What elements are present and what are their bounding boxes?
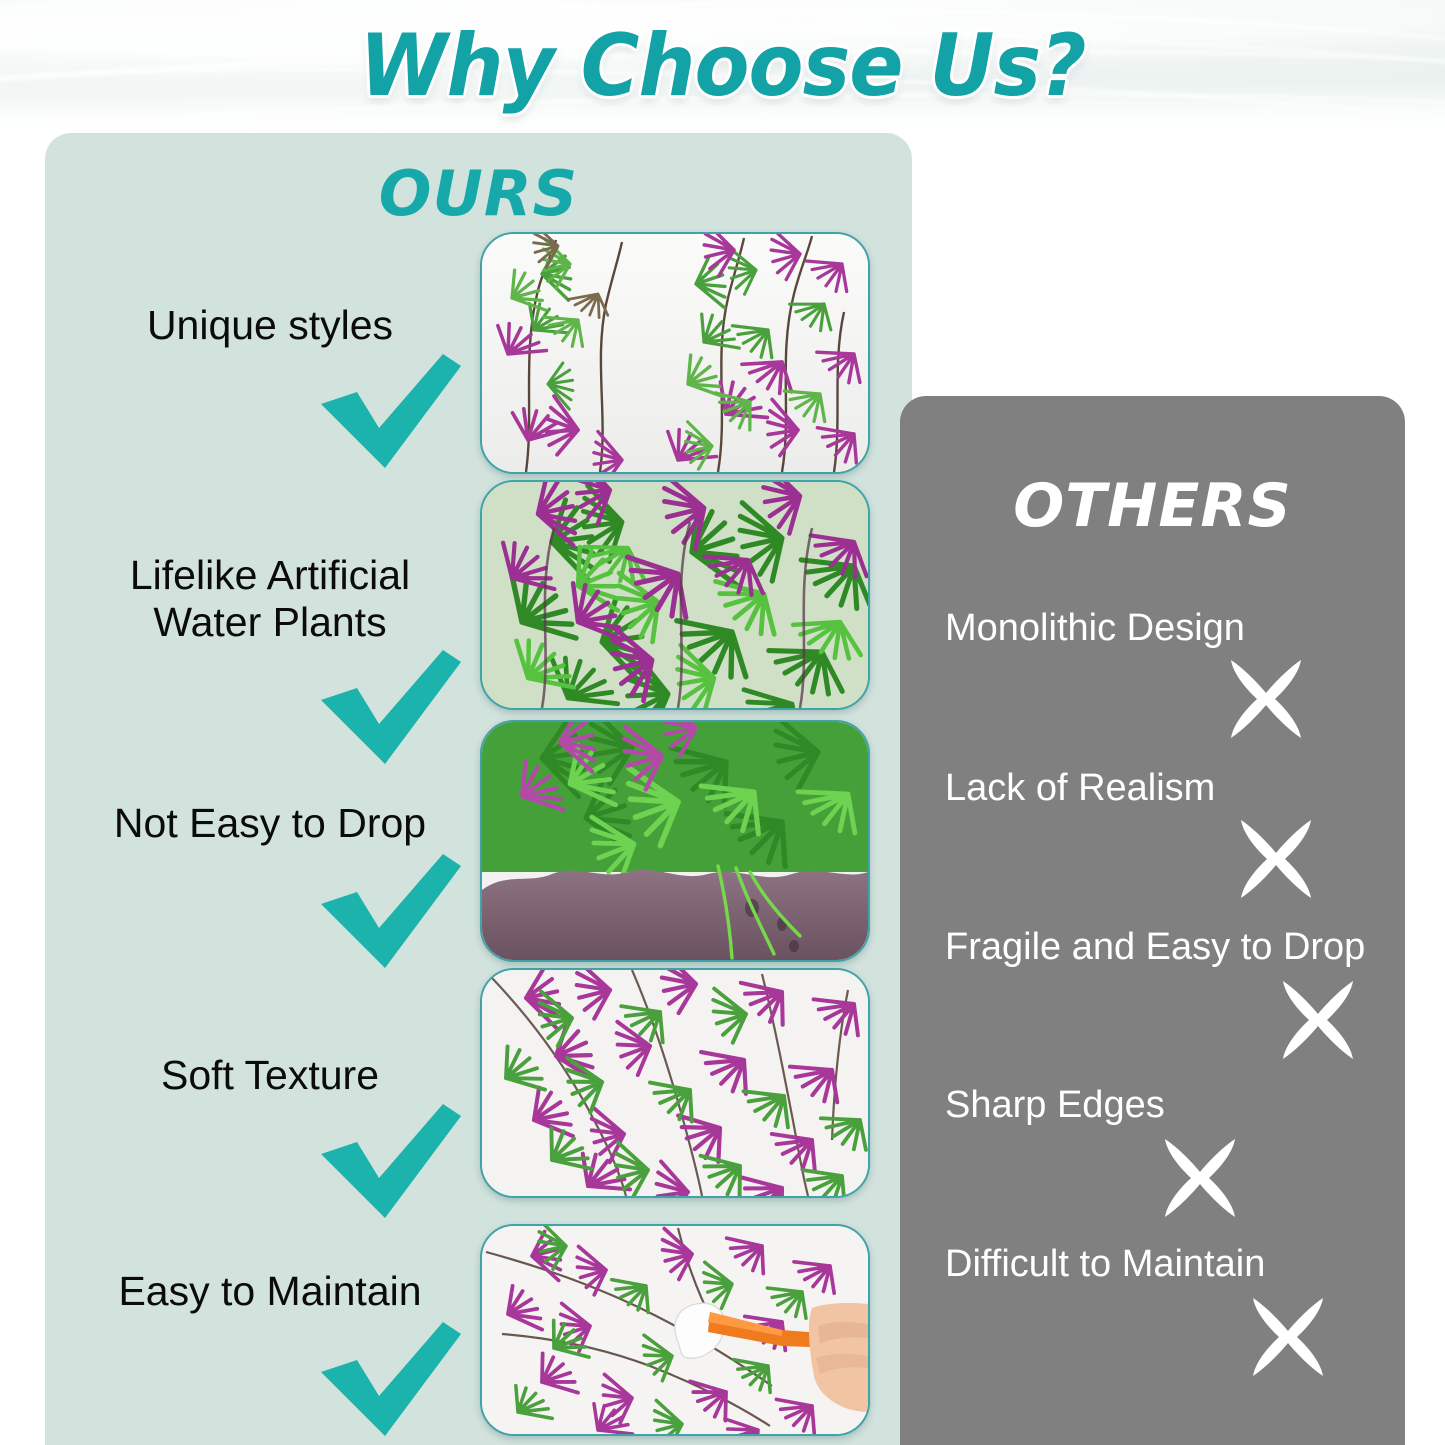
x-icon (1245, 1294, 1331, 1380)
product-photo-image (482, 1226, 868, 1434)
product-photo-lifelike-plants (480, 480, 870, 710)
others-item-label: Sharp Edges (945, 1083, 1165, 1127)
others-item-label: Fragile and Easy to Drop (945, 925, 1365, 969)
x-icon (1157, 1135, 1243, 1221)
ours-item-label: Unique styles (60, 302, 480, 349)
check-icon (315, 648, 465, 766)
product-photo-not-easy-to-drop (480, 720, 870, 962)
x-icon (1275, 977, 1361, 1063)
product-photo-image (482, 970, 868, 1196)
ours-item-label: Not Easy to Drop (60, 800, 480, 847)
product-photo-image (482, 234, 868, 472)
ours-item-label: Lifelike Artificial Water Plants (60, 552, 480, 646)
ours-item-label: Soft Texture (60, 1052, 480, 1099)
product-photo-unique-styles (480, 232, 870, 474)
page-title: Why Choose Us? (51, 14, 1395, 118)
ours-heading: OURS (45, 161, 912, 227)
check-icon (315, 852, 465, 970)
others-item-label: Lack of Realism (945, 766, 1215, 810)
x-icon (1223, 656, 1309, 742)
check-icon (315, 352, 465, 470)
others-panel: OTHERS (900, 396, 1405, 1445)
product-photo-soft-texture (480, 968, 870, 1198)
others-heading: OTHERS (900, 474, 1405, 538)
check-icon (315, 1320, 465, 1438)
ours-item-label: Easy to Maintain (60, 1268, 480, 1315)
others-item-label: Monolithic Design (945, 606, 1245, 650)
check-icon (315, 1102, 465, 1220)
others-item-label: Difficult to Maintain (945, 1242, 1265, 1286)
product-photo-image (482, 482, 868, 708)
x-icon (1233, 816, 1319, 902)
product-photo-easy-to-maintain (480, 1224, 870, 1436)
product-photo-image (482, 722, 868, 960)
